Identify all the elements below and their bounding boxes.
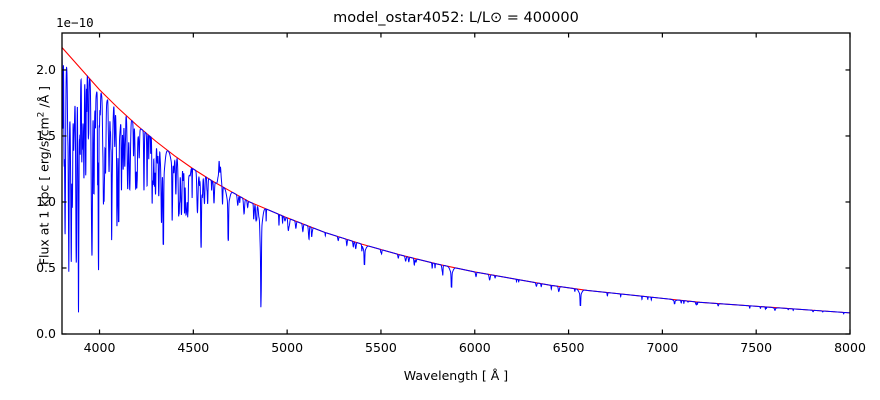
y-axis-label-suffix: /Å ] [37, 86, 52, 112]
x-tick-label: 7500 [740, 340, 772, 355]
x-tick-label: 6000 [459, 340, 491, 355]
y-axis-label-prefix: Flux at 1 kpc [ erg/s/cm [37, 117, 52, 265]
spectrum-figure: model_ostar4052: L/L⊙ = 400000 1e−10 0.0… [0, 0, 880, 400]
x-tick-label: 5000 [271, 340, 303, 355]
y-axis-label: Flux at 1 kpc [ erg/s/cm2 /Å ] [36, 16, 51, 336]
x-tick-label: 4000 [84, 340, 116, 355]
x-tick-label: 7000 [646, 340, 678, 355]
x-tick-label: 4500 [177, 340, 209, 355]
x-tick-label: 8000 [834, 340, 866, 355]
x-tick-label: 5500 [365, 340, 397, 355]
x-axis-label: Wavelength [ Å ] [62, 368, 850, 383]
x-tick-label: 6500 [553, 340, 585, 355]
y-axis-label-exponent: 2 [36, 112, 46, 118]
